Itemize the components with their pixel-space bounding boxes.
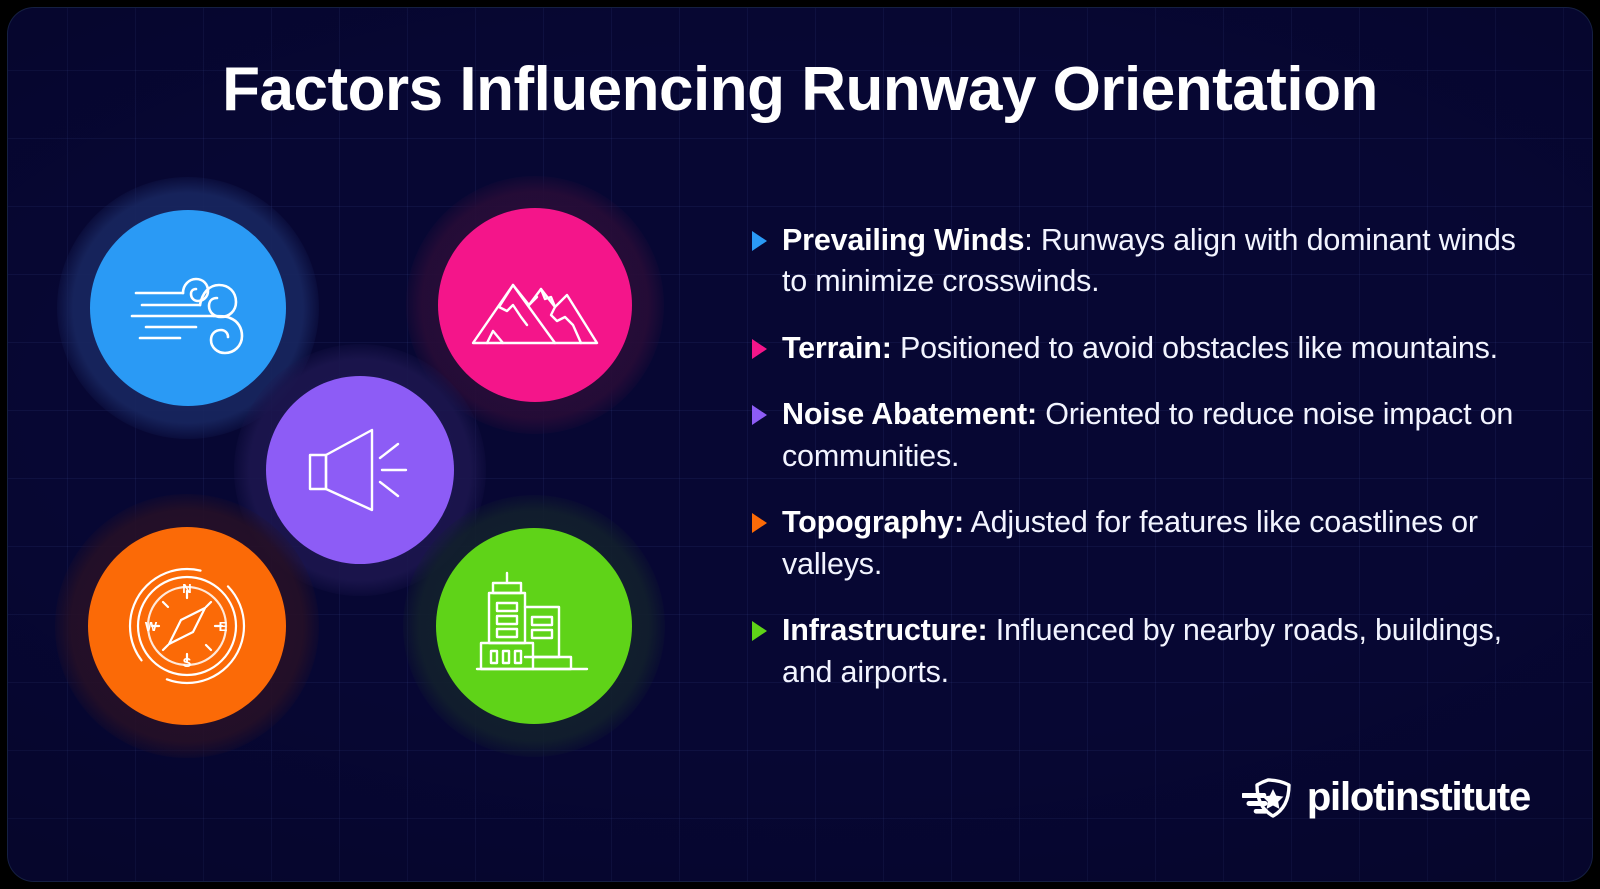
factor-separator: :	[1024, 223, 1032, 257]
speaker-icon	[304, 422, 416, 518]
bullet-arrow-icon	[752, 339, 767, 359]
mountain-icon	[469, 255, 601, 355]
bullet-arrow-icon	[752, 405, 767, 425]
svg-text:S: S	[183, 655, 192, 670]
infrastructure-disc	[436, 528, 632, 724]
wind-disc	[90, 210, 286, 406]
svg-text:W: W	[145, 619, 158, 634]
factor-term: Terrain:	[782, 331, 892, 365]
factor-term: Prevailing Winds	[782, 223, 1024, 257]
icon-bubble-infrastructure	[436, 528, 632, 724]
icon-bubble-noise	[266, 376, 454, 564]
icon-cluster: N S E W	[8, 8, 748, 881]
bullet-arrow-icon	[752, 513, 767, 533]
icon-bubble-terrain	[438, 208, 632, 402]
wind-icon	[128, 253, 248, 363]
factor-description: Positioned to avoid obstacles like mount…	[892, 331, 1498, 365]
terrain-disc	[438, 208, 632, 402]
noise-disc	[266, 376, 454, 564]
infographic-card: Factors Influencing Runway Orientation	[8, 8, 1592, 881]
brand-logo: pilotinstitute	[1242, 775, 1530, 819]
list-item: Terrain: Positioned to avoid obstacles l…	[750, 328, 1540, 369]
svg-text:N: N	[182, 581, 191, 596]
building-icon	[475, 569, 593, 683]
icon-bubble-topography: N S E W	[88, 527, 286, 725]
compass-icon: N S E W	[125, 564, 249, 688]
list-item: Noise Abatement: Oriented to reduce nois…	[750, 394, 1540, 477]
factor-term: Topography:	[782, 505, 964, 539]
list-item: Topography: Adjusted for features like c…	[750, 502, 1540, 585]
bullet-arrow-icon	[752, 231, 767, 251]
topography-disc: N S E W	[88, 527, 286, 725]
list-item: Prevailing Winds: Runways align with dom…	[750, 220, 1540, 303]
bullet-arrow-icon	[752, 621, 767, 641]
list-item: Infrastructure: Influenced by nearby roa…	[750, 610, 1540, 693]
factor-term: Noise Abatement:	[782, 397, 1037, 431]
winged-shield-star-icon	[1242, 775, 1294, 819]
factor-term: Infrastructure:	[782, 613, 987, 647]
logo-wordmark: pilotinstitute	[1307, 777, 1530, 817]
factors-list: Prevailing Winds: Runways align with dom…	[750, 220, 1540, 693]
icon-bubble-wind	[90, 210, 286, 406]
svg-text:E: E	[219, 619, 228, 634]
